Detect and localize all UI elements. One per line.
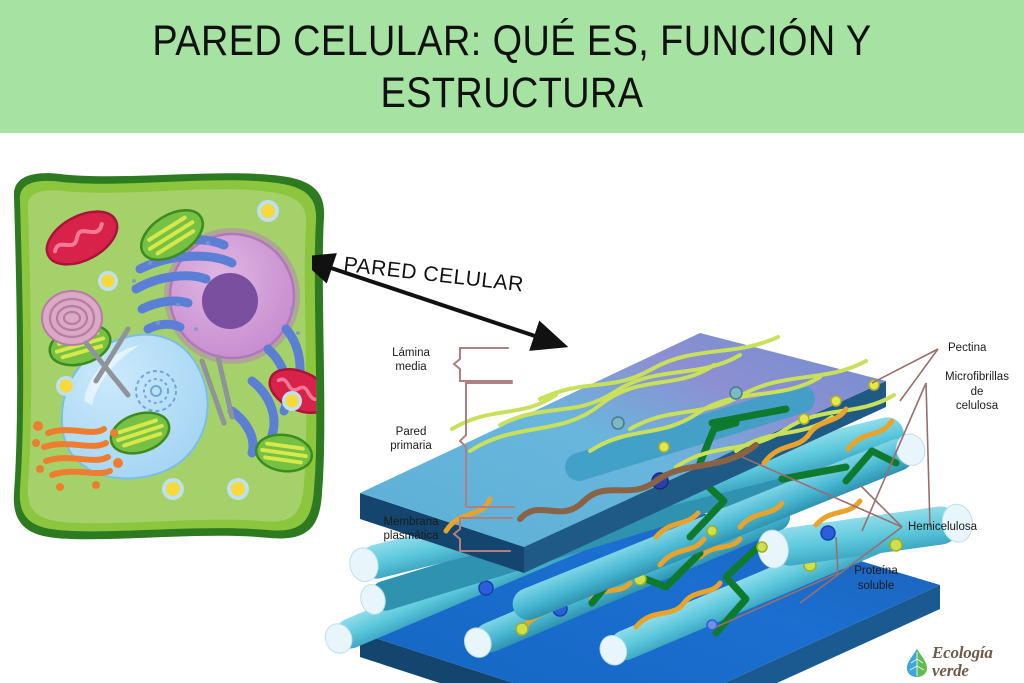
label-hemicelulosa: Hemicelulosa: [908, 520, 977, 535]
soluble-proteins-middle: [605, 514, 902, 552]
label-membrana-plasmatica-line1: Membrana: [368, 515, 454, 529]
logo-wordmark: Ecología verde: [932, 645, 993, 681]
golgi-spiral: [42, 291, 102, 345]
soluble-protein-top: [652, 473, 668, 489]
logo-line-2: verde: [932, 661, 969, 680]
label-pectina-line1: Pectina: [948, 341, 986, 356]
illustration-stage: PARED CELULAR Lámina media Pared primari…: [0, 133, 1024, 683]
brown-chain: [520, 445, 756, 519]
label-membrana-plasmatica-line2: plasmática: [368, 529, 454, 543]
pectin-dots: [612, 380, 879, 452]
label-braces: [454, 348, 514, 551]
plant-cell-illustration: [0, 133, 360, 573]
hemicellulose-lower: [592, 547, 758, 633]
label-proteina-soluble-line2: soluble: [841, 579, 911, 594]
orange-chains-lower: [520, 539, 740, 633]
nucleolus: [202, 273, 258, 329]
orange-chains-middle: [472, 483, 860, 565]
label-microfibrillas-line3: celulosa: [932, 399, 1022, 414]
page-root: PARED CELULAR: QUÉ ES, FUNCIÓN Y ESTRUCT…: [0, 0, 1024, 683]
header-band: PARED CELULAR: QUÉ ES, FUNCIÓN Y ESTRUCT…: [0, 0, 1024, 133]
label-proteina-soluble-line1: Proteína: [841, 564, 911, 579]
soluble-proteins-lower: [479, 559, 816, 635]
label-lamina-media: Lámina media: [372, 346, 450, 374]
hemicellulose-middle: [540, 449, 896, 537]
orange-chains-top: [446, 409, 892, 531]
label-hemicelulosa-line1: Hemicelulosa: [908, 520, 977, 535]
ecologia-verde-logo[interactable]: Ecología verde: [906, 645, 993, 681]
label-lamina-media-line2: media: [372, 360, 450, 374]
leaf-droplet-icon: [906, 648, 928, 678]
label-pectina: Pectina: [948, 341, 986, 356]
label-membrana-plasmatica: Membrana plasmática: [368, 515, 454, 543]
label-microfibrillas-line1: Microfibrillas: [932, 370, 1022, 385]
label-pared-primaria: Pared primaria: [372, 425, 450, 453]
label-pared-primaria-line1: Pared: [372, 425, 450, 439]
logo-line-1: Ecología: [932, 643, 993, 662]
label-pared-primaria-line2: primaria: [372, 439, 450, 453]
page-title: PARED CELULAR: QUÉ ES, FUNCIÓN Y ESTRUCT…: [98, 15, 925, 119]
label-microfibrillas-de-celulosa: Microfibrillas de celulosa: [932, 370, 1022, 414]
label-lamina-media-line1: Lámina: [372, 346, 450, 360]
label-microfibrillas-line2: de: [932, 385, 1022, 400]
label-proteina-soluble: Proteína soluble: [841, 564, 911, 593]
